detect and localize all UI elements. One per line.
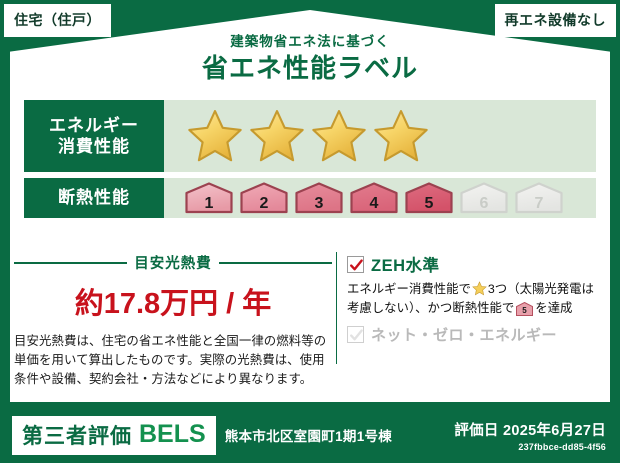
star-rating (164, 100, 596, 172)
zeh-column: ZEH水準 エネルギー消費性能で3つ（太陽光発電は考慮しない）、かつ断熱性能で5… (336, 252, 604, 364)
energy-performance-label: 住宅（住戸） 再エネ設備なし 建築物省エネ法に基づく 省エネ性能ラベル エネルギ… (0, 0, 620, 463)
insulation-performance-label-cell: 断熱性能 (24, 178, 164, 218)
level-badge-active: 1 (184, 182, 234, 214)
energy-label-line1: エネルギー (49, 116, 139, 135)
energy-performance-label-cell: エネルギー 消費性能 (24, 100, 164, 172)
bels-en-text: BELS (139, 420, 206, 449)
evaluation-info: 評価日 2025年6月27日 237fbbce-dd85-4f56 (454, 419, 606, 452)
cost-note: 目安光熱費は、住宅の省エネ性能と全国一律の燃料等の単価を用いて算出したものです。… (14, 332, 332, 390)
net-zero-energy-title: ネット・ゼロ・エネルギー (371, 324, 557, 345)
net-zero-energy-row: ネット・ゼロ・エネルギー (347, 324, 604, 345)
inline-star-icon (472, 281, 487, 296)
zeh-description: エネルギー消費性能で3つ（太陽光発電は考慮しない）、かつ断熱性能で5を達成 (347, 280, 604, 317)
page-title: 省エネ性能ラベル (0, 48, 620, 85)
level-badge-active: 5 (404, 182, 454, 214)
performance-section: エネルギー 消費性能 断熱性能 1234567 (24, 100, 596, 224)
svg-text:3: 3 (315, 195, 324, 212)
level-badge-inactive: 7 (514, 182, 564, 214)
star-icon-filled (186, 108, 244, 164)
zeh-standard-row: ZEH水準 (347, 252, 604, 276)
bels-jp-text: 第三者評価 (22, 420, 132, 450)
evaluation-code: 237fbbce-dd85-4f56 (454, 442, 606, 452)
zeh-standard-title: ZEH水準 (371, 252, 440, 276)
inline-level-badge-icon: 5 (516, 302, 533, 316)
energy-performance-row: エネルギー 消費性能 (24, 100, 596, 172)
energy-label-line2: 消費性能 (58, 137, 130, 156)
insulation-performance-row: 断熱性能 1234567 (24, 178, 596, 218)
property-address: 熊本市北区室園町1期1号棟 (225, 425, 392, 445)
svg-text:5: 5 (523, 306, 528, 315)
level-badge-active: 3 (294, 182, 344, 214)
bels-logo: 第三者評価 BELS (12, 416, 216, 455)
svg-text:6: 6 (480, 195, 489, 212)
level-badge-inactive: 6 (459, 182, 509, 214)
footer-bar: 第三者評価 BELS 熊本市北区室園町1期1号棟 評価日 2025年6月27日 … (0, 407, 620, 463)
cost-value: 約17.8万円 / 年 (14, 280, 332, 322)
svg-text:2: 2 (260, 195, 269, 212)
zeh-checkbox-checked (347, 256, 364, 273)
zeh-desc-part1: エネルギー消費性能で (347, 282, 471, 296)
insulation-level-scale: 1234567 (164, 178, 596, 218)
star-icon-filled (310, 108, 368, 164)
star-icon-filled (372, 108, 430, 164)
header-subtitle: 建築物省エネ法に基づく (0, 30, 620, 50)
cost-rule-right (219, 262, 332, 264)
cost-column: 目安光熱費 約17.8万円 / 年 目安光熱費は、住宅の省エネ性能と全国一律の燃… (14, 252, 332, 390)
evaluation-date: 評価日 2025年6月27日 (454, 419, 606, 440)
svg-text:1: 1 (205, 195, 214, 212)
svg-text:7: 7 (535, 195, 544, 212)
net-zero-checkbox-unchecked (347, 326, 364, 343)
star-icon-filled (248, 108, 306, 164)
level-badge-active: 2 (239, 182, 289, 214)
svg-text:4: 4 (370, 195, 379, 212)
cost-rule-left (14, 262, 127, 264)
cost-heading: 目安光熱費 (14, 252, 332, 273)
cost-heading-text: 目安光熱費 (134, 252, 212, 273)
zeh-desc-part3: を達成 (535, 301, 572, 315)
level-badge-active: 4 (349, 182, 399, 214)
svg-text:5: 5 (425, 195, 434, 212)
